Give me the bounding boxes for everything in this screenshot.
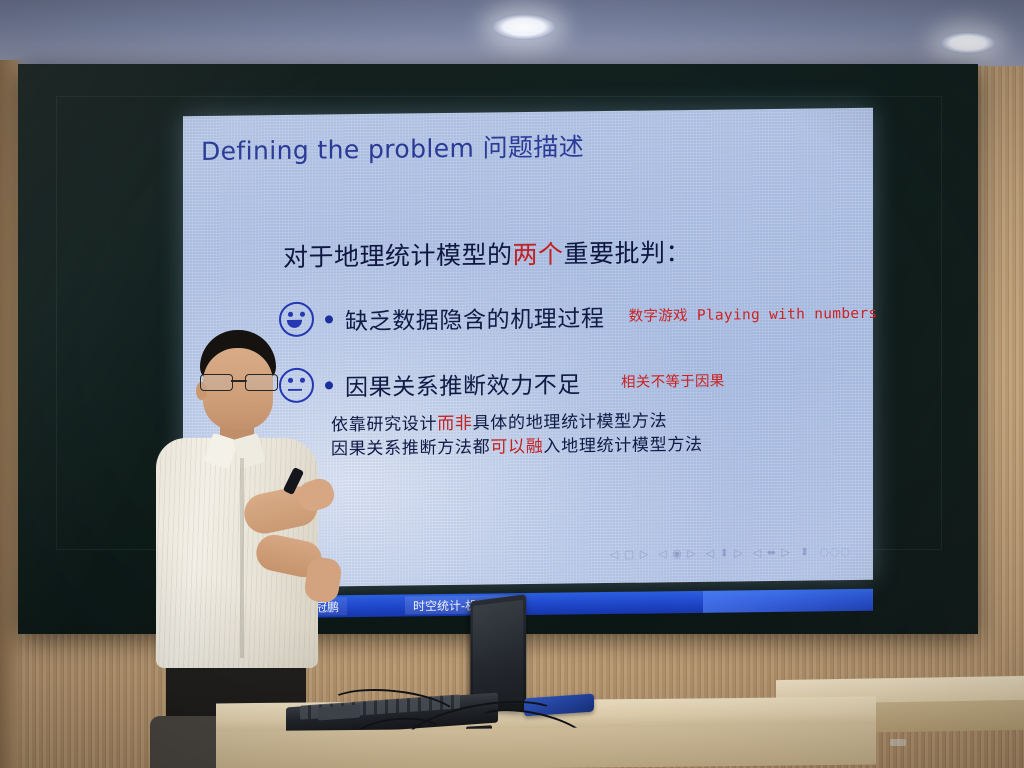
front-desk-edge [216,725,876,768]
glasses-icon [200,374,278,389]
ceiling-light-icon [492,14,556,40]
presenter-shirt-placket [240,458,244,658]
chair [150,716,224,768]
lecture-room-scene: Defining the problem 问题描述 对于地理统计模型的两个重要批… [0,0,1024,768]
laptop-screen[interactable] [473,600,523,704]
display-brand-logo [890,739,906,746]
presenter-hand-left [303,556,343,604]
ceiling-light-icon [940,32,996,54]
